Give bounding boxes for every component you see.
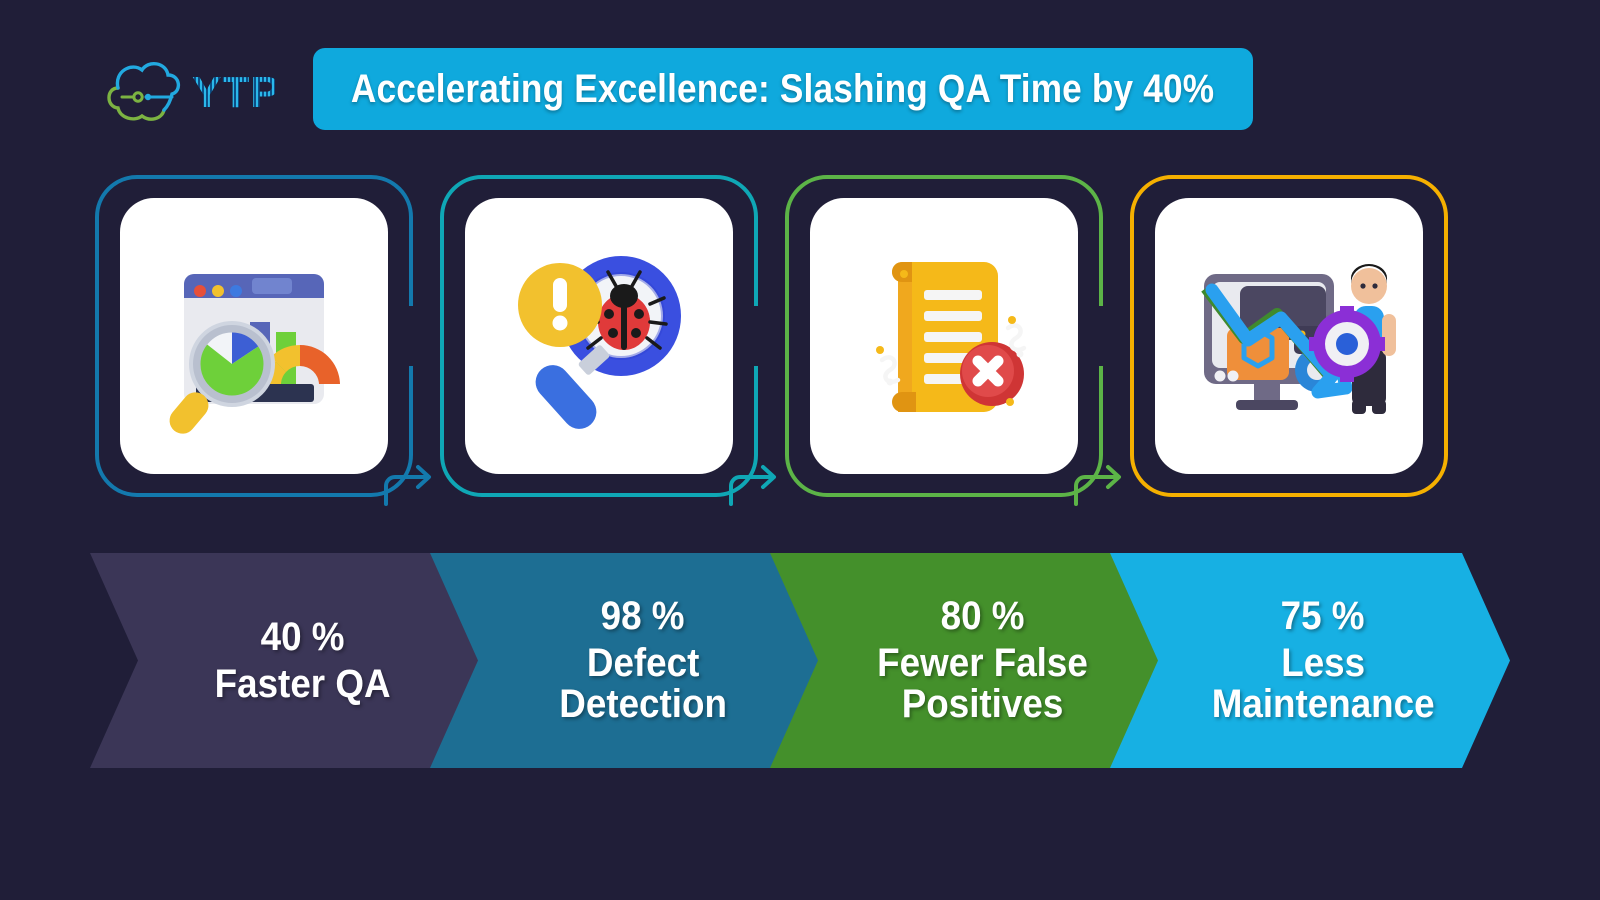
metric-label-line: Detection [559,684,727,725]
card-frame-gap [1097,306,1107,366]
metric-label: Faster QA [215,664,391,705]
metric-label-line: Positives [878,684,1089,725]
metric-label-line: Fewer False [878,643,1089,684]
card-panel [810,198,1078,474]
metric-chevron-faster-qa[interactable]: 40 % Faster QA [90,553,490,768]
icon-card-failed-report[interactable] [785,175,1103,497]
card-panel [465,198,733,474]
metric-chevron-row: 40 % Faster QA 98 % Defect Detection 80 … [0,553,1600,768]
metric-chevron-less-maintenance[interactable]: 75 % Less Maintenance [1110,553,1510,768]
metric-label-line: Faster QA [215,664,391,705]
icon-card-maintenance-reduction[interactable] [1130,175,1448,497]
infographic-canvas: YTP Accelerating Excellence: Slashing QA… [0,0,1600,900]
document-error-icon [842,234,1047,439]
ytp-cloud-logo: YTP [100,55,275,123]
icon-card-bug-detection[interactable] [440,175,758,497]
metric-label-line: Defect [559,643,727,684]
title-banner: Accelerating Excellence: Slashing QA Tim… [313,48,1253,130]
card-frame-gap [752,306,762,366]
icon-card-row [0,175,1600,505]
page-title: Accelerating Excellence: Slashing QA Tim… [351,67,1214,112]
card-panel [1155,198,1423,474]
metric-label-line: Less [1212,643,1435,684]
metric-percent: 80 % [941,596,1025,637]
svg-text:YTP: YTP [192,68,275,117]
metric-label: Defect Detection [559,643,727,725]
metric-label-line: Maintenance [1212,684,1435,725]
analytics-dashboard-icon [152,234,357,439]
icon-card-analytics-dashboard[interactable] [95,175,413,497]
card-frame-gap [407,306,417,366]
metric-percent: 75 % [1281,596,1365,637]
header: YTP Accelerating Excellence: Slashing QA… [0,0,1600,170]
metric-chevron-defect-detection[interactable]: 98 % Defect Detection [430,553,830,768]
metric-percent: 98 % [601,596,685,637]
monitor-downtrend-gear-icon [1182,234,1397,439]
card-panel [120,198,388,474]
bug-magnifier-icon [497,234,702,439]
metric-percent: 40 % [261,617,345,658]
metric-chevron-fewer-false-positives[interactable]: 80 % Fewer False Positives [770,553,1170,768]
metric-label: Fewer False Positives [878,643,1089,725]
metric-label: Less Maintenance [1212,643,1435,725]
